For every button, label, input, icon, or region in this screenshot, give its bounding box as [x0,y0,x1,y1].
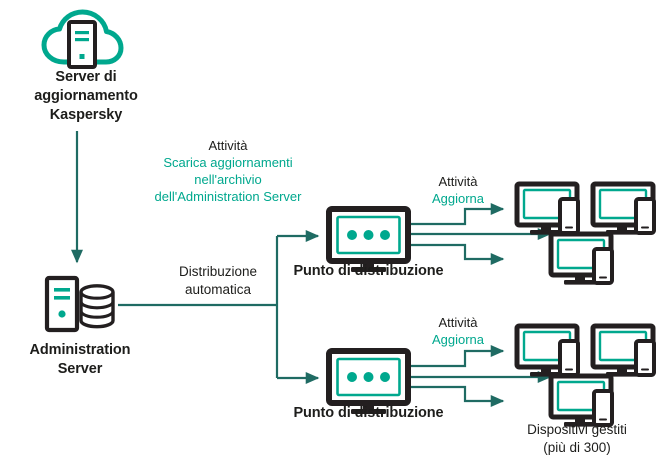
download-task-heading: Attività [88,138,368,155]
download-task-detail-line3: dell'Administration Server [88,189,368,206]
administration-server-label-line2: Server [0,360,160,379]
update-server-label-line1: Server di [0,68,172,87]
update-task-label-bottom: Attività Aggiorna [383,315,533,349]
server-database-icon [47,278,113,330]
update-task-label-top: Attività Aggiorna [383,174,533,208]
update-server-label-line3: Kaspersky [0,106,172,125]
administration-server-label-line1: Administration [0,341,160,360]
auto-distribution-label-line1: Distribuzione [137,263,299,281]
update-task-bottom-heading: Attività [383,315,533,332]
monitor-phone-icon [593,184,654,235]
update-task-top-heading: Attività [383,174,533,191]
download-task-detail-line1: Scarica aggiornamenti [88,155,368,172]
update-task-bottom-detail: Aggiorna [383,332,533,349]
cloud-server-icon [44,12,121,67]
update-server-label-line2: aggiornamento [0,87,172,106]
network-topology-diagram: Server di aggiornamento Kaspersky Attivi… [0,0,660,475]
auto-distribution-label: Distribuzione automatica [137,263,299,298]
update-server-label: Server di aggiornamento Kaspersky [0,68,172,125]
managed-devices-label-line1: Dispositivi gestiti [494,421,660,439]
distribution-point-bottom-text: Punto di distribuzione [277,404,460,423]
update-task-top-detail: Aggiorna [383,191,533,208]
managed-devices-label-line2: (più di 300) [494,439,660,457]
distribution-point-label-bottom: Punto di distribuzione [277,404,460,423]
auto-distribution-label-line2: automatica [137,281,299,299]
download-task-detail-line2: nell'archivio [88,172,368,189]
monitor-phone-icon [551,234,612,285]
distribution-point-label-top: Punto di distribuzione [277,262,460,281]
download-task-label: Attività Scarica aggiornamenti nell'arch… [88,138,368,206]
distribution-point-top-text: Punto di distribuzione [277,262,460,281]
managed-devices-label: Dispositivi gestiti (più di 300) [494,421,660,456]
monitor-phone-icon [551,376,612,427]
monitor-phone-icon [593,326,654,377]
administration-server-label: Administration Server [0,341,160,379]
